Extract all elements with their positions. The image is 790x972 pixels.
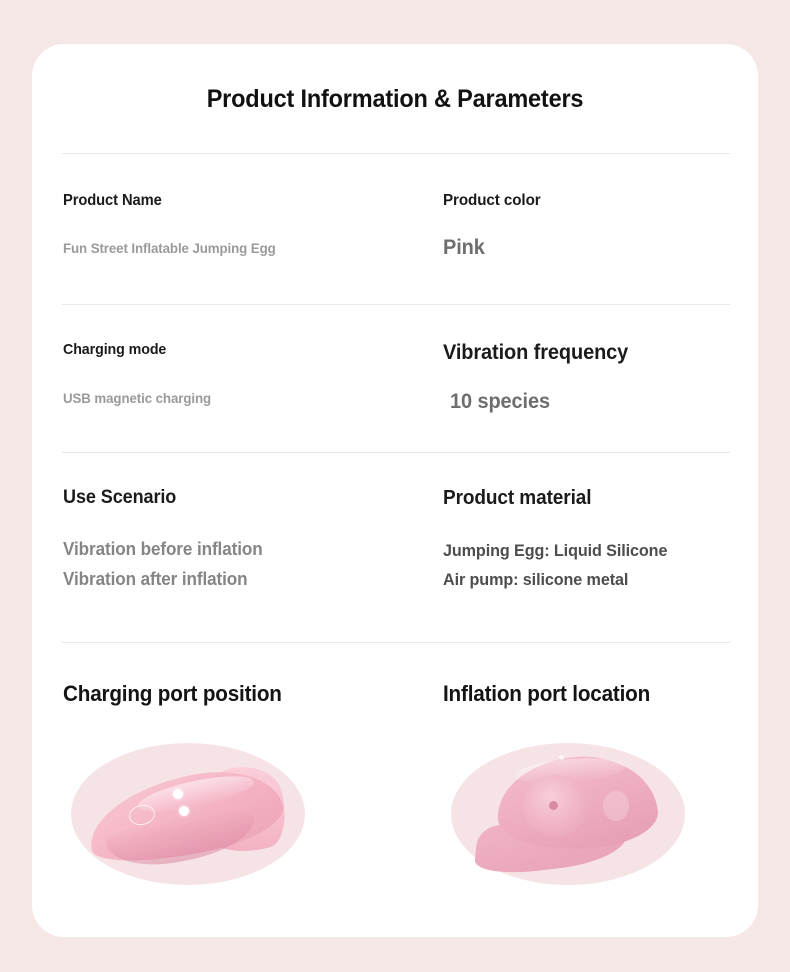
spec-value: Fun Street Inflatable Jumping Egg: [63, 240, 419, 256]
spec-cell-product-color: Product color Pink: [438, 192, 758, 260]
spec-label: Use Scenario: [63, 487, 419, 509]
spec-cell-charging-mode: Charging mode USB magnetic charging: [32, 341, 438, 414]
inflation-port-hole-icon: [549, 801, 558, 810]
divider-1: [62, 153, 730, 154]
device-emboss-shape: [603, 791, 629, 821]
port-section: Charging port position Inflation port lo…: [32, 681, 758, 895]
divider-3: [62, 452, 730, 453]
spec-row: Charging mode USB magnetic charging Vibr…: [32, 341, 758, 414]
spec-label: Vibration frequency: [443, 341, 742, 365]
port-cell-charging: Charging port position: [32, 681, 438, 895]
spec-label: Product color: [443, 192, 742, 210]
port-title: Charging port position: [63, 681, 416, 707]
charging-pin-icon: [173, 789, 183, 799]
spec-cell-product-name: Product Name Fun Street Inflatable Jumpi…: [32, 192, 438, 260]
device-speck-highlight: [559, 755, 564, 760]
spec-cell-product-material: Product material Jumping Egg: Liquid Sil…: [438, 487, 758, 590]
spec-cell-vibration-frequency: Vibration frequency 10 species: [438, 341, 758, 414]
product-illustration-charging: [87, 773, 287, 865]
port-cell-inflation: Inflation port location: [438, 681, 758, 895]
spec-value: Vibration after inflation: [63, 569, 419, 590]
spec-label: Product Name: [63, 192, 419, 210]
spec-value: 10 species: [450, 390, 743, 414]
charging-pin-icon: [179, 806, 189, 816]
port-title: Inflation port location: [443, 681, 739, 707]
divider-2: [62, 304, 730, 305]
divider-4: [62, 642, 730, 643]
spec-row: Product Name Fun Street Inflatable Jumpi…: [32, 192, 758, 260]
spec-value: Pink: [443, 236, 742, 260]
spec-value: Vibration before inflation: [63, 539, 419, 560]
spec-label: Charging mode: [63, 341, 419, 358]
product-illustration-inflation: [475, 753, 671, 877]
page-title: Product Information & Parameters: [54, 85, 736, 114]
charging-port-photo: [63, 735, 313, 895]
spec-label: Product material: [443, 487, 742, 510]
spec-cell-use-scenario: Use Scenario Vibration before inflation …: [32, 487, 438, 590]
spec-value: USB magnetic charging: [63, 390, 419, 406]
spec-value: Jumping Egg: Liquid Silicone: [443, 541, 742, 561]
spec-row: Use Scenario Vibration before inflation …: [32, 487, 758, 590]
spec-value: Air pump: silicone metal: [443, 570, 742, 590]
product-info-card: Product Information & Parameters Product…: [32, 44, 758, 937]
inflation-port-photo: [443, 735, 693, 895]
